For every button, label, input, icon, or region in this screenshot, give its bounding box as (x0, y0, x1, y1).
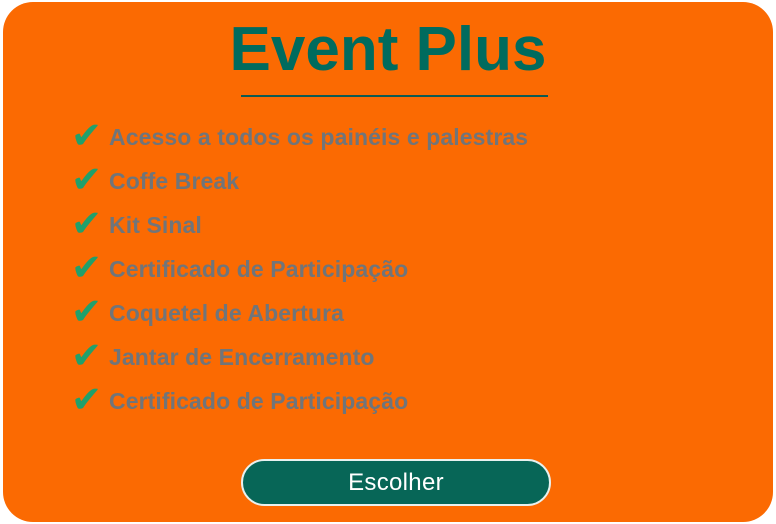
check-icon: ✔ (71, 293, 109, 330)
check-icon: ✔ (71, 337, 109, 374)
list-item: ✔ Certificado de Participação (71, 247, 751, 291)
list-item: ✔ Coffe Break (71, 159, 751, 203)
benefit-label: Kit Sinal (109, 212, 202, 239)
benefit-list: ✔ Acesso a todos os painéis e palestras … (71, 115, 751, 423)
choose-button[interactable]: Escolher (241, 459, 551, 506)
pricing-card: Event Plus ✔ Acesso a todos os painéis e… (3, 2, 773, 522)
benefit-label: Jantar de Encerramento (109, 344, 375, 371)
title-divider (241, 95, 548, 97)
check-icon: ✔ (71, 161, 109, 198)
list-item: ✔ Certificado de Participação (71, 379, 751, 423)
list-item: ✔ Coquetel de Abertura (71, 291, 751, 335)
benefit-label: Coffe Break (109, 168, 239, 195)
benefit-label: Coquetel de Abertura (109, 300, 344, 327)
list-item: ✔ Acesso a todos os painéis e palestras (71, 115, 751, 159)
benefit-label: Acesso a todos os painéis e palestras (109, 124, 528, 151)
list-item: ✔ Jantar de Encerramento (71, 335, 751, 379)
list-item: ✔ Kit Sinal (71, 203, 751, 247)
check-icon: ✔ (71, 381, 109, 418)
check-icon: ✔ (71, 117, 109, 154)
check-icon: ✔ (71, 249, 109, 286)
benefit-label: Certificado de Participação (109, 256, 408, 283)
check-icon: ✔ (71, 205, 109, 242)
page-title: Event Plus (3, 19, 773, 81)
benefit-label: Certificado de Participação (109, 388, 408, 415)
